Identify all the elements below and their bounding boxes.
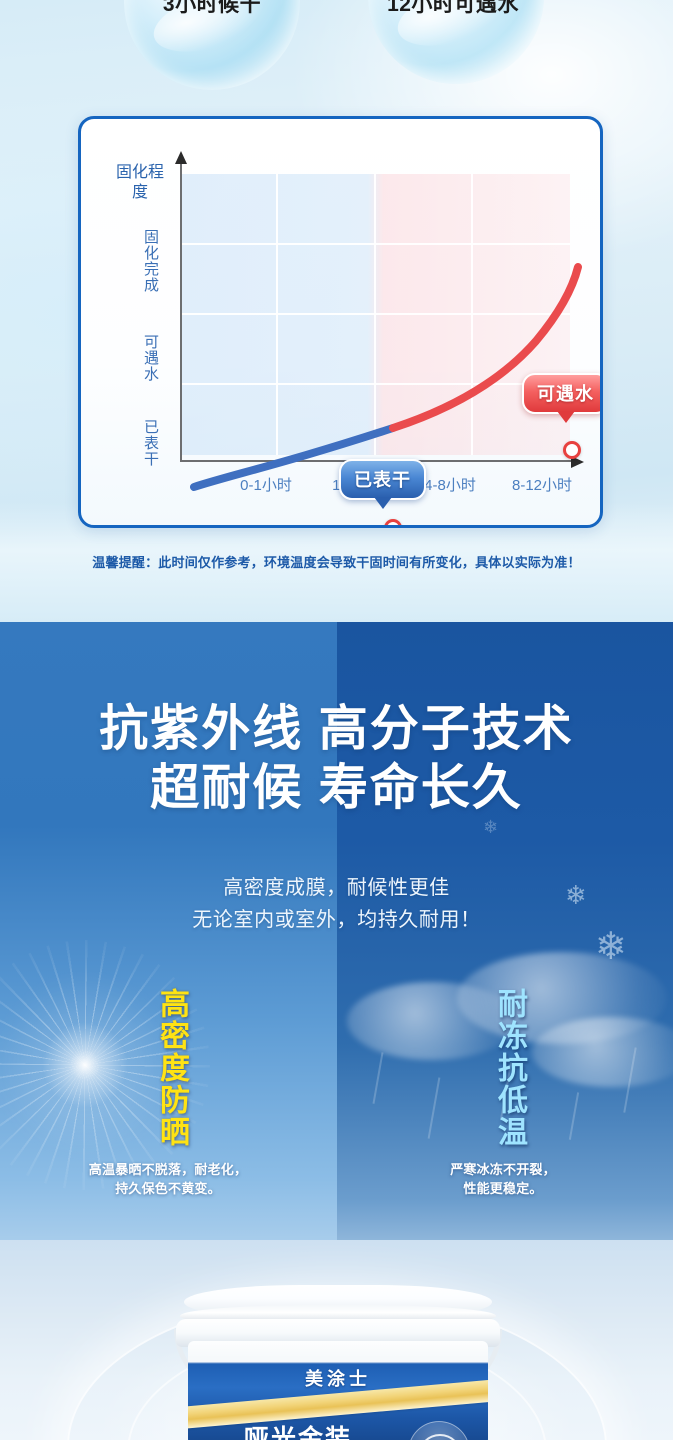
subline-line-1: 高密度成膜，耐候性更佳: [0, 872, 673, 904]
paint-bucket: 美涂士 哑光金装: [168, 1285, 508, 1440]
rain-streak-2: [428, 1077, 440, 1138]
rain-streak-1: [372, 1052, 383, 1103]
desc-left-line-2: 持久保色不黄变。: [28, 1179, 308, 1198]
cloud-decoration-3: [532, 1017, 673, 1087]
desc-right-line-2: 性能更稳定。: [378, 1179, 628, 1198]
feature-headline: 抗紫外线 高分子技术 超耐候 寿命长久: [0, 700, 673, 818]
feature-desc-sun-protection: 高温暴晒不脱落，耐老化， 持久保色不黄变。: [28, 1160, 308, 1198]
bubble-label-2: 12小时可遇水: [358, 0, 548, 18]
subline-line-2: 无论室内或室外，均持久耐用！: [0, 904, 673, 936]
desc-right-line-1: 严寒冰冻不开裂，: [378, 1160, 628, 1179]
curve-node-water-ready: [563, 441, 581, 459]
product-detail-page: 3小时候干 12小时可遇水 固化程度 固化完成 可遇水 已表干 0-1小时: [0, 0, 673, 1440]
product-seal-badge: [408, 1421, 470, 1440]
rain-streak-4: [569, 1092, 579, 1140]
headline-line-1: 抗紫外线 高分子技术: [0, 700, 673, 759]
bubble-label-1: 3小时候干: [117, 0, 307, 18]
feature-title-sun-protection: 高密度防晒: [156, 988, 187, 1148]
product-name-label: 哑光金装: [198, 1419, 398, 1440]
snowflake-icon-3: ❄: [483, 818, 498, 836]
product-brand-label: 美涂士: [188, 1365, 488, 1391]
seal-arc-icon: [418, 1434, 462, 1440]
desc-left-line-1: 高温暴晒不脱落，耐老化，: [28, 1160, 308, 1179]
callout-surface-dry: 已表干: [339, 459, 426, 500]
chart-inner: 固化程度 固化完成 可遇水 已表干 0-1小时 1-4小时 4-8小时 8-12…: [81, 119, 600, 525]
chart-notice-text: 温馨提醒：此时间仅作参考，环境温度会导致干固时间有所变化，具体以实际为准！: [0, 552, 673, 571]
feature-title-freeze-resistance: 耐冻抗低温: [494, 988, 525, 1148]
feature-subheadline: 高密度成膜，耐候性更佳 无论室内或室外，均持久耐用！: [0, 872, 673, 936]
bucket-body: 美涂士 哑光金装: [188, 1341, 488, 1440]
curing-chart-card: 固化程度 固化完成 可遇水 已表干 0-1小时 1-4小时 4-8小时 8-12…: [78, 116, 603, 528]
feature-desc-freeze-resistance: 严寒冰冻不开裂， 性能更稳定。: [378, 1160, 628, 1198]
callout-water-ready: 可遇水: [522, 373, 603, 414]
headline-line-2: 超耐候 寿命长久: [0, 759, 673, 818]
